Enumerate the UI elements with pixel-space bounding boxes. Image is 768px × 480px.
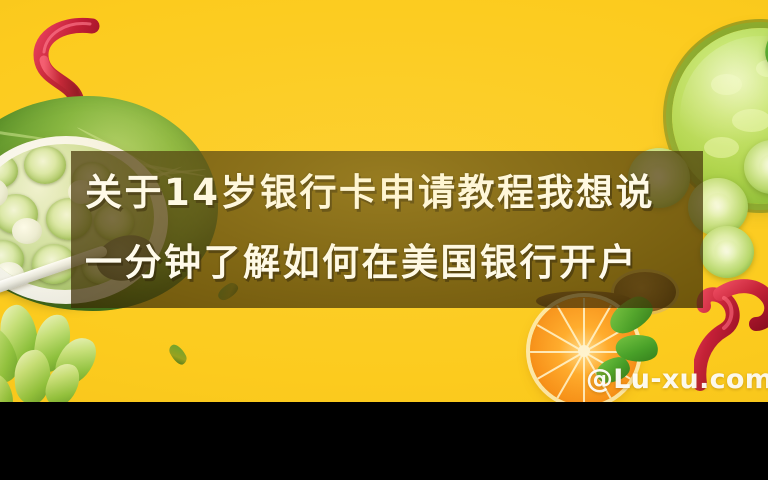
cucumber-slice: [700, 226, 754, 278]
title-overlay-band: 关于14岁银行卡申请教程我想说 一分钟了解如何在美国银行开户: [71, 151, 703, 308]
bottom-letterbox: [0, 402, 768, 480]
floating-leaf: [167, 342, 189, 368]
title-text-block: 关于14岁银行卡申请教程我想说 一分钟了解如何在美国银行开户: [85, 158, 697, 298]
title-line-2: 一分钟了解如何在美国银行开户: [85, 228, 697, 298]
title-line-1: 关于14岁银行卡申请教程我想说: [85, 158, 697, 228]
thumbnail-canvas: 关于14岁银行卡申请教程我想说 一分钟了解如何在美国银行开户 @Lu-xu.co…: [0, 0, 768, 480]
watermark: @Lu-xu.com: [586, 364, 768, 395]
food-photo-background: 关于14岁银行卡申请教程我想说 一分钟了解如何在美国银行开户 @Lu-xu.co…: [0, 0, 768, 402]
celery-greens: [0, 300, 138, 402]
